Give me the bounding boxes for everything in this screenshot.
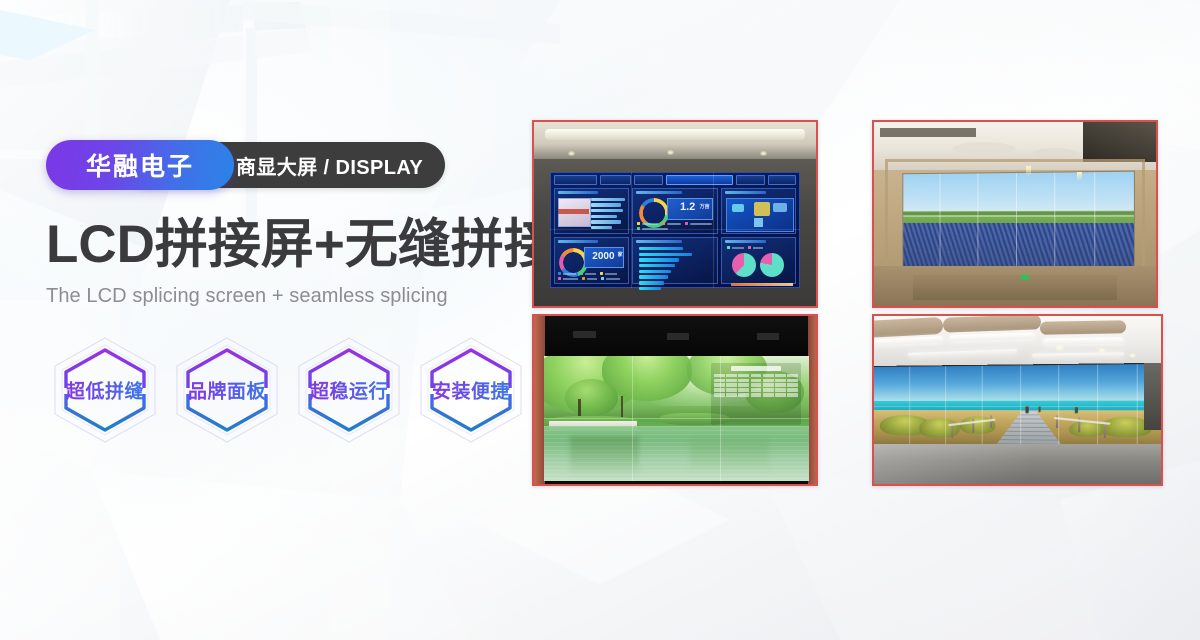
banner-copy: 商显大屏 / DISPLAY 华融电子 LCD拼接屏+无缝拼接 The LCD … <box>46 140 546 308</box>
page-subtitle: The LCD splicing screen + seamless splic… <box>46 285 546 308</box>
photo-beach-boardwalk-video-wall[interactable] <box>872 314 1163 486</box>
dashboard-big-number: 1.2 <box>680 201 695 213</box>
video-wall-screen <box>874 363 1161 450</box>
dashboard-secondary-unit: 家 <box>618 251 623 258</box>
brand-badge: 华融电子 <box>46 140 234 190</box>
photo-solar-farm-video-wall[interactable] <box>872 120 1158 308</box>
calendar-overlay <box>711 363 801 425</box>
feature-item-0: 超低拼缝 <box>46 332 164 448</box>
video-wall-screen <box>544 356 809 480</box>
category-badge-label: 商显大屏 / DISPLAY <box>236 151 423 180</box>
photo-lake-willow-video-wall[interactable] <box>532 314 818 486</box>
feature-item-3: 安装便捷 <box>412 332 530 448</box>
feature-item-1: 品牌面板 <box>168 332 286 448</box>
photo-dashboard-video-wall[interactable]: 1.2 万亩 <box>532 120 818 308</box>
badge-row: 商显大屏 / DISPLAY 华融电子 <box>46 140 546 190</box>
video-wall-screen <box>903 170 1136 270</box>
feature-label: 品牌面板 <box>168 377 286 404</box>
dashboard-secondary-number: 2000 <box>592 251 614 262</box>
feature-label: 超低拼缝 <box>46 377 164 404</box>
feature-label: 超稳运行 <box>290 377 408 404</box>
dashboard-big-number-unit: 万亩 <box>700 203 710 210</box>
brand-badge-label: 华融电子 <box>86 147 194 183</box>
page-title: LCD拼接屏+无缝拼接 <box>46 218 546 272</box>
banner-root: 商显大屏 / DISPLAY 华融电子 LCD拼接屏+无缝拼接 The LCD … <box>0 0 1200 640</box>
feature-item-2: 超稳运行 <box>290 332 408 448</box>
feature-list: 超低拼缝 品牌面板 <box>46 332 530 448</box>
feature-label: 安装便捷 <box>412 377 530 404</box>
